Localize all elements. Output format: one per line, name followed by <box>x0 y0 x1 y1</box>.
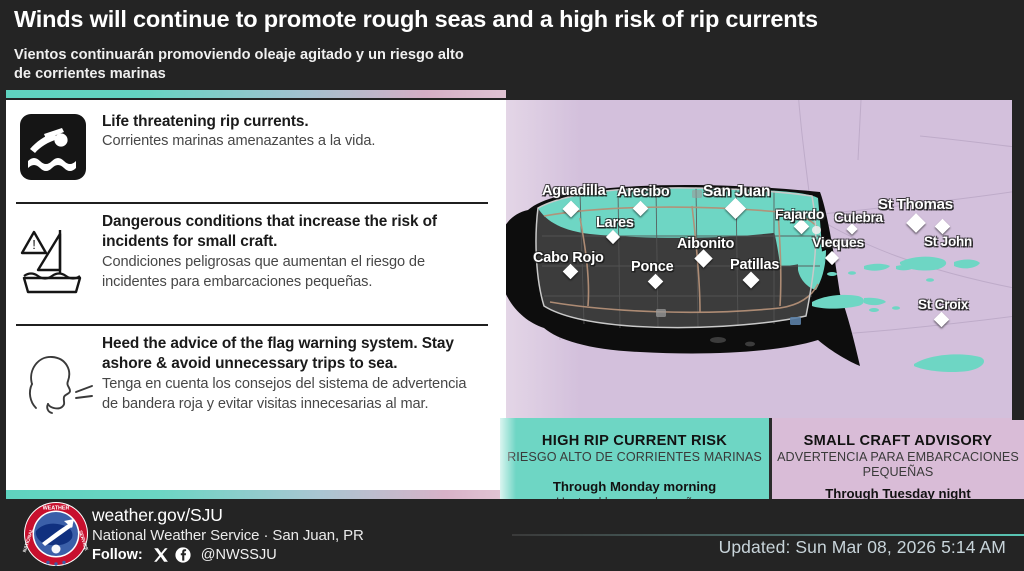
city-label-st-john: St John <box>924 234 972 249</box>
social-handle: @NWSSJU <box>201 547 277 563</box>
svg-text:WEATHER: WEATHER <box>43 506 70 512</box>
accent-stripe-bottom <box>6 490 506 499</box>
headline-english: Winds will continue to promote rough sea… <box>14 6 974 33</box>
bullets-panel: Life threatening rip currents. Corriente… <box>6 98 506 490</box>
footer-follow-row: Follow: @NWSSJU <box>92 547 364 563</box>
city-label-ponce: Ponce <box>631 259 674 275</box>
city-label-lares: Lares <box>596 215 634 231</box>
accent-stripe-top <box>6 90 506 98</box>
legend-1-title-en: HIGH RIP CURRENT RISK <box>500 432 769 450</box>
footer-accent-line <box>512 534 1024 536</box>
facebook-icon[interactable] <box>175 547 191 563</box>
follow-label: Follow: <box>92 547 143 563</box>
st-croix-island <box>914 354 984 372</box>
city-label-st-croix: St Croix <box>918 297 968 312</box>
map-right-mask <box>1012 40 1024 420</box>
city-label-aibonito: Aibonito <box>677 236 734 252</box>
city-label-fajardo: Fajardo <box>775 206 824 222</box>
footer-url[interactable]: weather.gov/SJU <box>92 505 364 526</box>
bullet-1-spanish: Corrientes marinas amenazantes a la vida… <box>102 132 486 152</box>
bullet-3-spanish: Tenga en cuenta los consejos del sistema… <box>102 375 486 414</box>
bullet-divider-1 <box>16 202 488 204</box>
bullet-2-spanish: Condiciones peligrosas que aumentan el r… <box>102 253 486 292</box>
city-label-aguadilla: Aguadilla <box>542 183 605 199</box>
bullet-1-english: Life threatening rip currents. <box>102 112 486 132</box>
city-label-cabo-rojo: Cabo Rojo <box>533 250 604 266</box>
nws-seal-icon: WEATHER NATIONAL SERVICE <box>22 499 90 569</box>
footer-text-block: weather.gov/SJU National Weather Service… <box>92 505 364 563</box>
city-label-vieques: Vieques <box>812 234 864 250</box>
st-john-island <box>954 259 980 268</box>
updated-timestamp: Updated: Sun Mar 08, 2026 5:14 AM <box>719 537 1006 558</box>
city-label-arecibo: Arecibo <box>617 184 670 200</box>
bullet-divider-2 <box>16 324 488 326</box>
sailboat-warning-icon: ! <box>18 222 88 292</box>
bullet-2-english: Dangerous conditions that increase the r… <box>102 212 486 251</box>
culebra-island <box>864 264 890 271</box>
city-label-culebra: Culebra <box>834 210 883 225</box>
svg-text:!: ! <box>32 237 36 252</box>
speaking-head-advisory-icon <box>18 348 88 418</box>
legend-1-valid-en: Through Monday morning <box>500 479 769 495</box>
legend-1-title-es: RIESGO ALTO DE CORRIENTES MARINAS <box>500 450 769 465</box>
x-twitter-icon[interactable] <box>153 547 169 563</box>
city-label-san-juan: San Juan <box>703 183 770 201</box>
legend-2-title-es: ADVERTENCIA PARA EMBARCACIONES PEQUEÑAS <box>772 450 1024 480</box>
footer-office: National Weather Service · San Juan, PR <box>92 526 364 546</box>
swimmer-rip-current-icon <box>18 112 88 182</box>
headline-spanish: Vientos continuarán promoviendo oleaje a… <box>14 46 484 84</box>
bullet-3-english: Heed the advice of the flag warning syst… <box>102 334 486 373</box>
city-label-patillas: Patillas <box>730 257 779 273</box>
weather-graphic: AguadillaAreciboSan JuanLaresCabo RojoPo… <box>0 0 1024 571</box>
legend-2-title-en: SMALL CRAFT ADVISORY <box>772 432 1024 450</box>
city-label-st-thomas: St Thomas <box>878 196 953 213</box>
